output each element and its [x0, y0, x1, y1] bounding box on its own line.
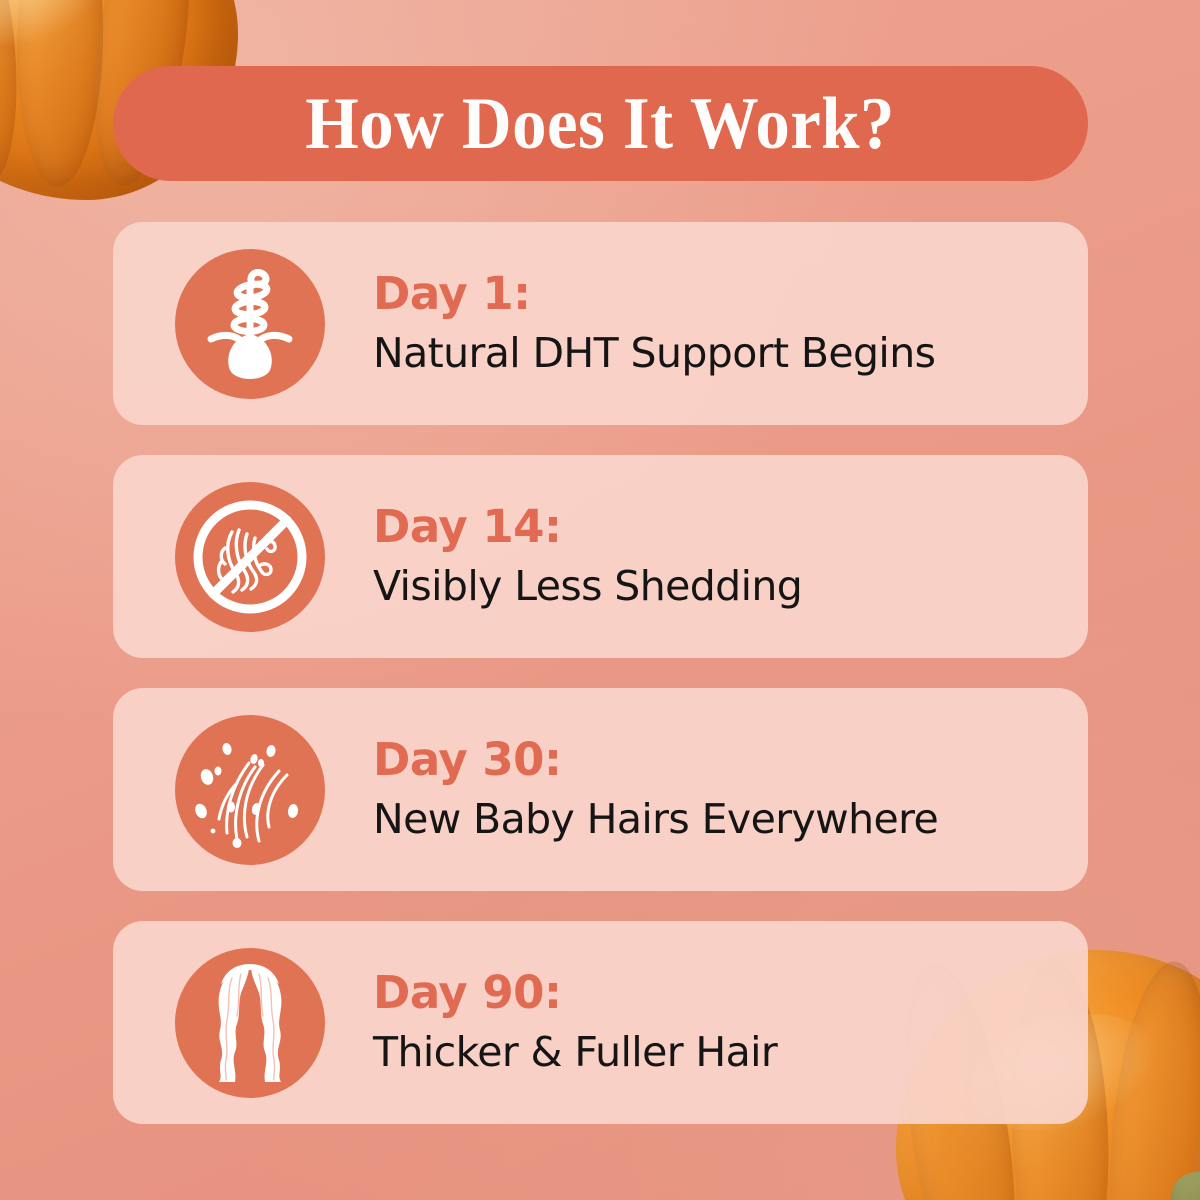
scalp-new-growth-icon	[175, 715, 325, 865]
timeline-step-text: Day 90: Thicker & Fuller Hair	[373, 969, 777, 1076]
long-wavy-hair-icon	[175, 948, 325, 1098]
timeline-step-text: Day 30: New Baby Hairs Everywhere	[373, 736, 938, 843]
day-description: Visibly Less Shedding	[373, 563, 802, 610]
day-label: Day 1:	[373, 270, 935, 319]
timeline-step-day-90: Day 90: Thicker & Fuller Hair	[113, 921, 1088, 1124]
day-description: New Baby Hairs Everywhere	[373, 796, 938, 843]
hair-follicle-icon	[175, 249, 325, 399]
day-label: Day 90:	[373, 969, 777, 1018]
timeline-step-text: Day 14: Visibly Less Shedding	[373, 503, 802, 610]
day-description: Thicker & Fuller Hair	[373, 1029, 777, 1076]
day-label: Day 14:	[373, 503, 802, 552]
header-banner: How Does It Work?	[113, 66, 1088, 181]
poster-canvas: How Does It Work?	[0, 0, 1200, 1200]
page-title: How Does It Work?	[306, 87, 896, 161]
day-label: Day 30:	[373, 736, 938, 785]
timeline-step-day-30: Day 30: New Baby Hairs Everywhere	[113, 688, 1088, 891]
timeline-step-text: Day 1: Natural DHT Support Begins	[373, 270, 935, 377]
no-shedding-icon	[175, 482, 325, 632]
timeline-step-day-1: Day 1: Natural DHT Support Begins	[113, 222, 1088, 425]
timeline-list: Day 1: Natural DHT Support Begins	[113, 222, 1088, 1124]
day-description: Natural DHT Support Begins	[373, 330, 935, 377]
timeline-step-day-14: Day 14: Visibly Less Shedding	[113, 455, 1088, 658]
